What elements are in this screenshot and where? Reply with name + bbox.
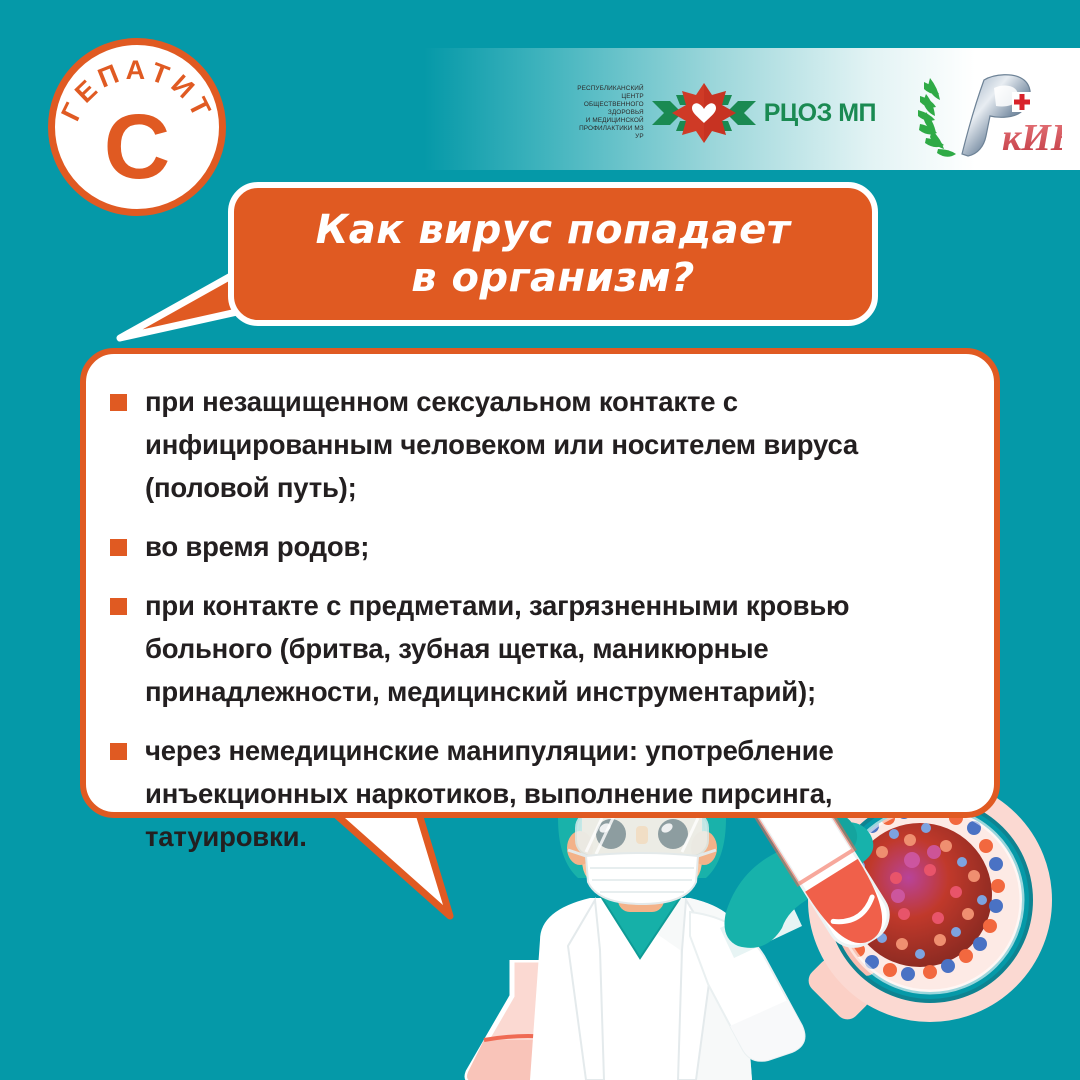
bullet-square-icon [110, 743, 127, 760]
badge-letter: С [55, 101, 219, 193]
hepatitis-c-badge: ГЕПАТИТ С [48, 38, 226, 216]
rcozmp-mark-icon [650, 81, 758, 145]
transmission-list-panel: при незащищенном сексуальном контакте с … [80, 348, 1000, 818]
rcozmp-subtitle-line-2: ОБЩЕСТВЕННОГО ЗДОРОВЬЯ [576, 101, 644, 117]
logo-rkib: кИБ [906, 58, 1062, 166]
list-item: во время родов; [110, 525, 970, 568]
title-line-1: Как вирус попадает [316, 206, 791, 254]
title-speech-bubble: Как вирус попадает в организм? [228, 182, 878, 326]
rcozmp-subtitle: РЕСПУБЛИКАНСКИЙ ЦЕНТР ОБЩЕСТВЕННОГО ЗДОР… [576, 85, 644, 141]
list-item-text: во время родов; [145, 525, 369, 568]
rcozmp-subtitle-line-1: РЕСПУБЛИКАНСКИЙ ЦЕНТР [576, 85, 644, 101]
svg-text:кИБ: кИБ [1002, 117, 1062, 159]
face-mask-icon [568, 850, 716, 904]
list-item-text: при незащищенном сексуальном контакте с … [145, 380, 970, 509]
list-item: при контакте с предметами, загрязненными… [110, 584, 970, 713]
rcozmp-subtitle-line-3: И МЕДИЦИНСКОЙ [576, 117, 644, 125]
red-cross-icon [1012, 92, 1032, 112]
list-item: при незащищенном сексуальном контакте с … [110, 380, 970, 509]
bullet-square-icon [110, 394, 127, 411]
bullet-square-icon [110, 598, 127, 615]
list-item-text: при контакте с предметами, загрязненными… [145, 584, 970, 713]
poster-canvas: РЕСПУБЛИКАНСКИЙ ЦЕНТР ОБЩЕСТВЕННОГО ЗДОР… [0, 0, 1080, 1080]
rcozmp-subtitle-line-4: ПРОФИЛАКТИКИ МЗ УР [576, 125, 644, 141]
page-title: Как вирус попадает в организм? [298, 206, 809, 302]
list-item: через немедицинские манипуляции: употреб… [110, 729, 970, 858]
logo-rcozmp: РЕСПУБЛИКАНСКИЙ ЦЕНТР ОБЩЕСТВЕННОГО ЗДОР… [576, 78, 876, 148]
bullet-square-icon [110, 539, 127, 556]
transmission-list: при незащищенном сексуальном контакте с … [86, 354, 994, 858]
laurel-wreath-icon [918, 78, 956, 157]
list-item-text: через немедицинские манипуляции: употреб… [145, 729, 970, 858]
title-line-2: в организм? [316, 254, 791, 302]
rcozmp-abbreviation: РЦОЗ МП [764, 99, 876, 128]
